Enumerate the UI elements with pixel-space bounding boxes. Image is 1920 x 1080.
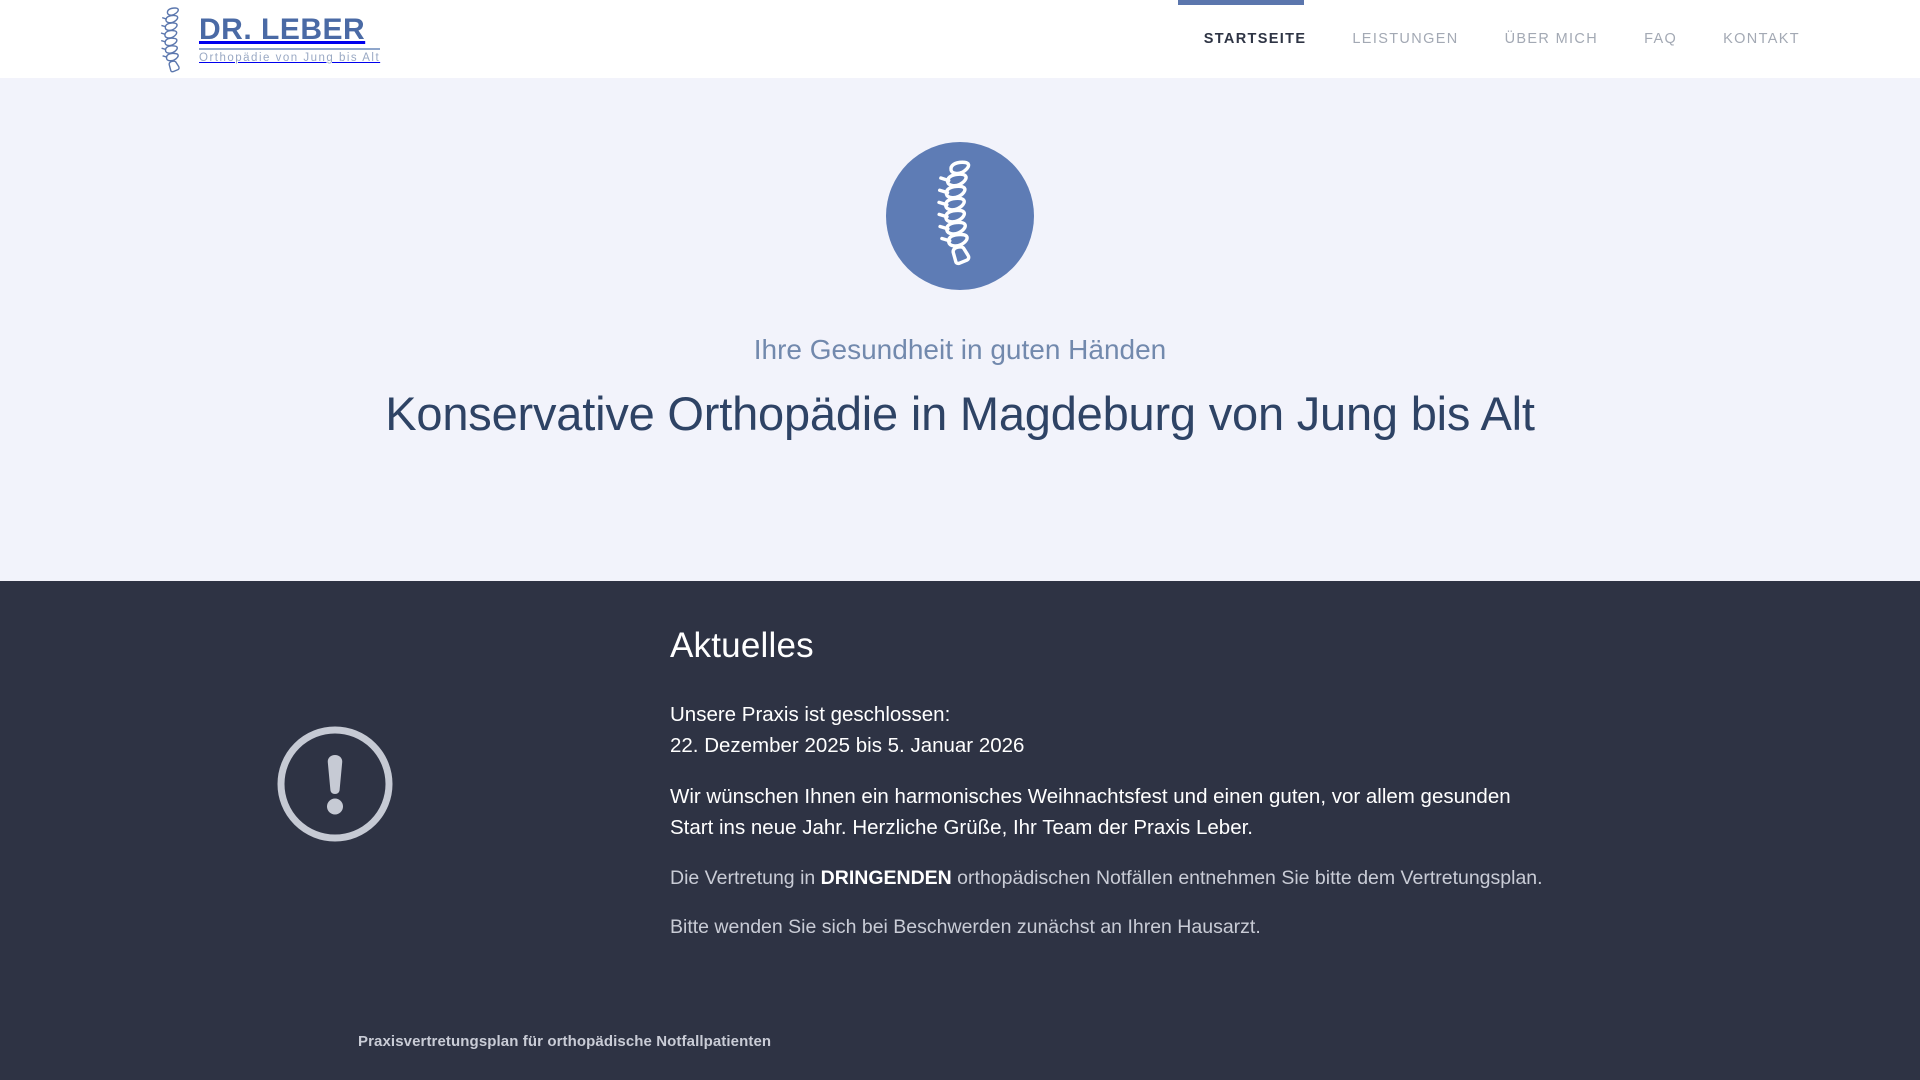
active-nav-indicator <box>1178 0 1304 5</box>
spine-icon <box>922 157 998 275</box>
nav-item-startseite[interactable]: STARTSEITE <box>1204 31 1307 47</box>
exclamation-circle-icon <box>274 723 396 963</box>
hero-title-line-1: Konservative Orthopädie <box>385 387 898 440</box>
news-greeting-paragraph: Wir wünschen Ihnen ein harmonisches Weih… <box>670 781 1550 843</box>
news-substitute-prefix: Die Vertretung in <box>670 867 821 889</box>
news-substitute-suffix: orthopädischen Notfällen entnehmen Sie b… <box>952 867 1543 889</box>
news-closure-line-2: 22. Dezember 2025 bis 5. Januar 2026 <box>670 730 1550 761</box>
news-footnote: Praxisvertretungsplan für orthopädische … <box>358 1033 771 1050</box>
news-icon-column <box>0 625 670 963</box>
nav-item-leistungen[interactable]: LEISTUNGEN <box>1352 31 1458 47</box>
news-body: Aktuelles Unsere Praxis ist geschlossen:… <box>670 625 1920 963</box>
logo-title: DR. LEBER <box>199 15 380 46</box>
hero-kicker: Ihre Gesundheit in guten Händen <box>754 333 1167 367</box>
hero-title-line-2: in Magdeburg von Jung bis Alt <box>911 387 1535 440</box>
news-section: Aktuelles Unsere Praxis ist geschlossen:… <box>0 581 1920 1080</box>
news-substitute-paragraph: Die Vertretung in DRINGENDEN orthopädisc… <box>670 864 1550 894</box>
nav-item-ueber-mich[interactable]: ÜBER MICH <box>1505 31 1599 47</box>
site-logo[interactable]: DR. LEBER Orthopädie von Jung bis Alt <box>158 5 380 73</box>
nav-item-faq[interactable]: FAQ <box>1644 31 1677 47</box>
news-substitute-emphasis: DRINGENDEN <box>821 867 952 889</box>
news-closure-paragraph: Unsere Praxis ist geschlossen: 22. Dezem… <box>670 699 1550 761</box>
news-closure-line-1: Unsere Praxis ist geschlossen: <box>670 699 1550 730</box>
main-navigation: STARTSEITE LEISTUNGEN ÜBER MICH FAQ KONT… <box>1204 31 1800 47</box>
hero-section: Ihre Gesundheit in guten Händen Konserva… <box>0 78 1920 581</box>
logo-subtitle: Orthopädie von Jung bis Alt <box>199 52 380 65</box>
page-title: Konservative Orthopädie in Magdeburg von… <box>385 383 1534 445</box>
spine-icon <box>158 5 192 73</box>
hero-spine-badge <box>886 142 1034 290</box>
logo-text: DR. LEBER Orthopädie von Jung bis Alt <box>199 13 380 65</box>
news-heading: Aktuelles <box>670 625 1620 667</box>
news-doctor-note: Bitte wenden Sie sich bei Beschwerden zu… <box>670 913 1550 943</box>
nav-item-kontakt[interactable]: KONTAKT <box>1723 31 1800 47</box>
logo-divider <box>199 48 380 50</box>
site-header: DR. LEBER Orthopädie von Jung bis Alt ST… <box>0 0 1920 78</box>
